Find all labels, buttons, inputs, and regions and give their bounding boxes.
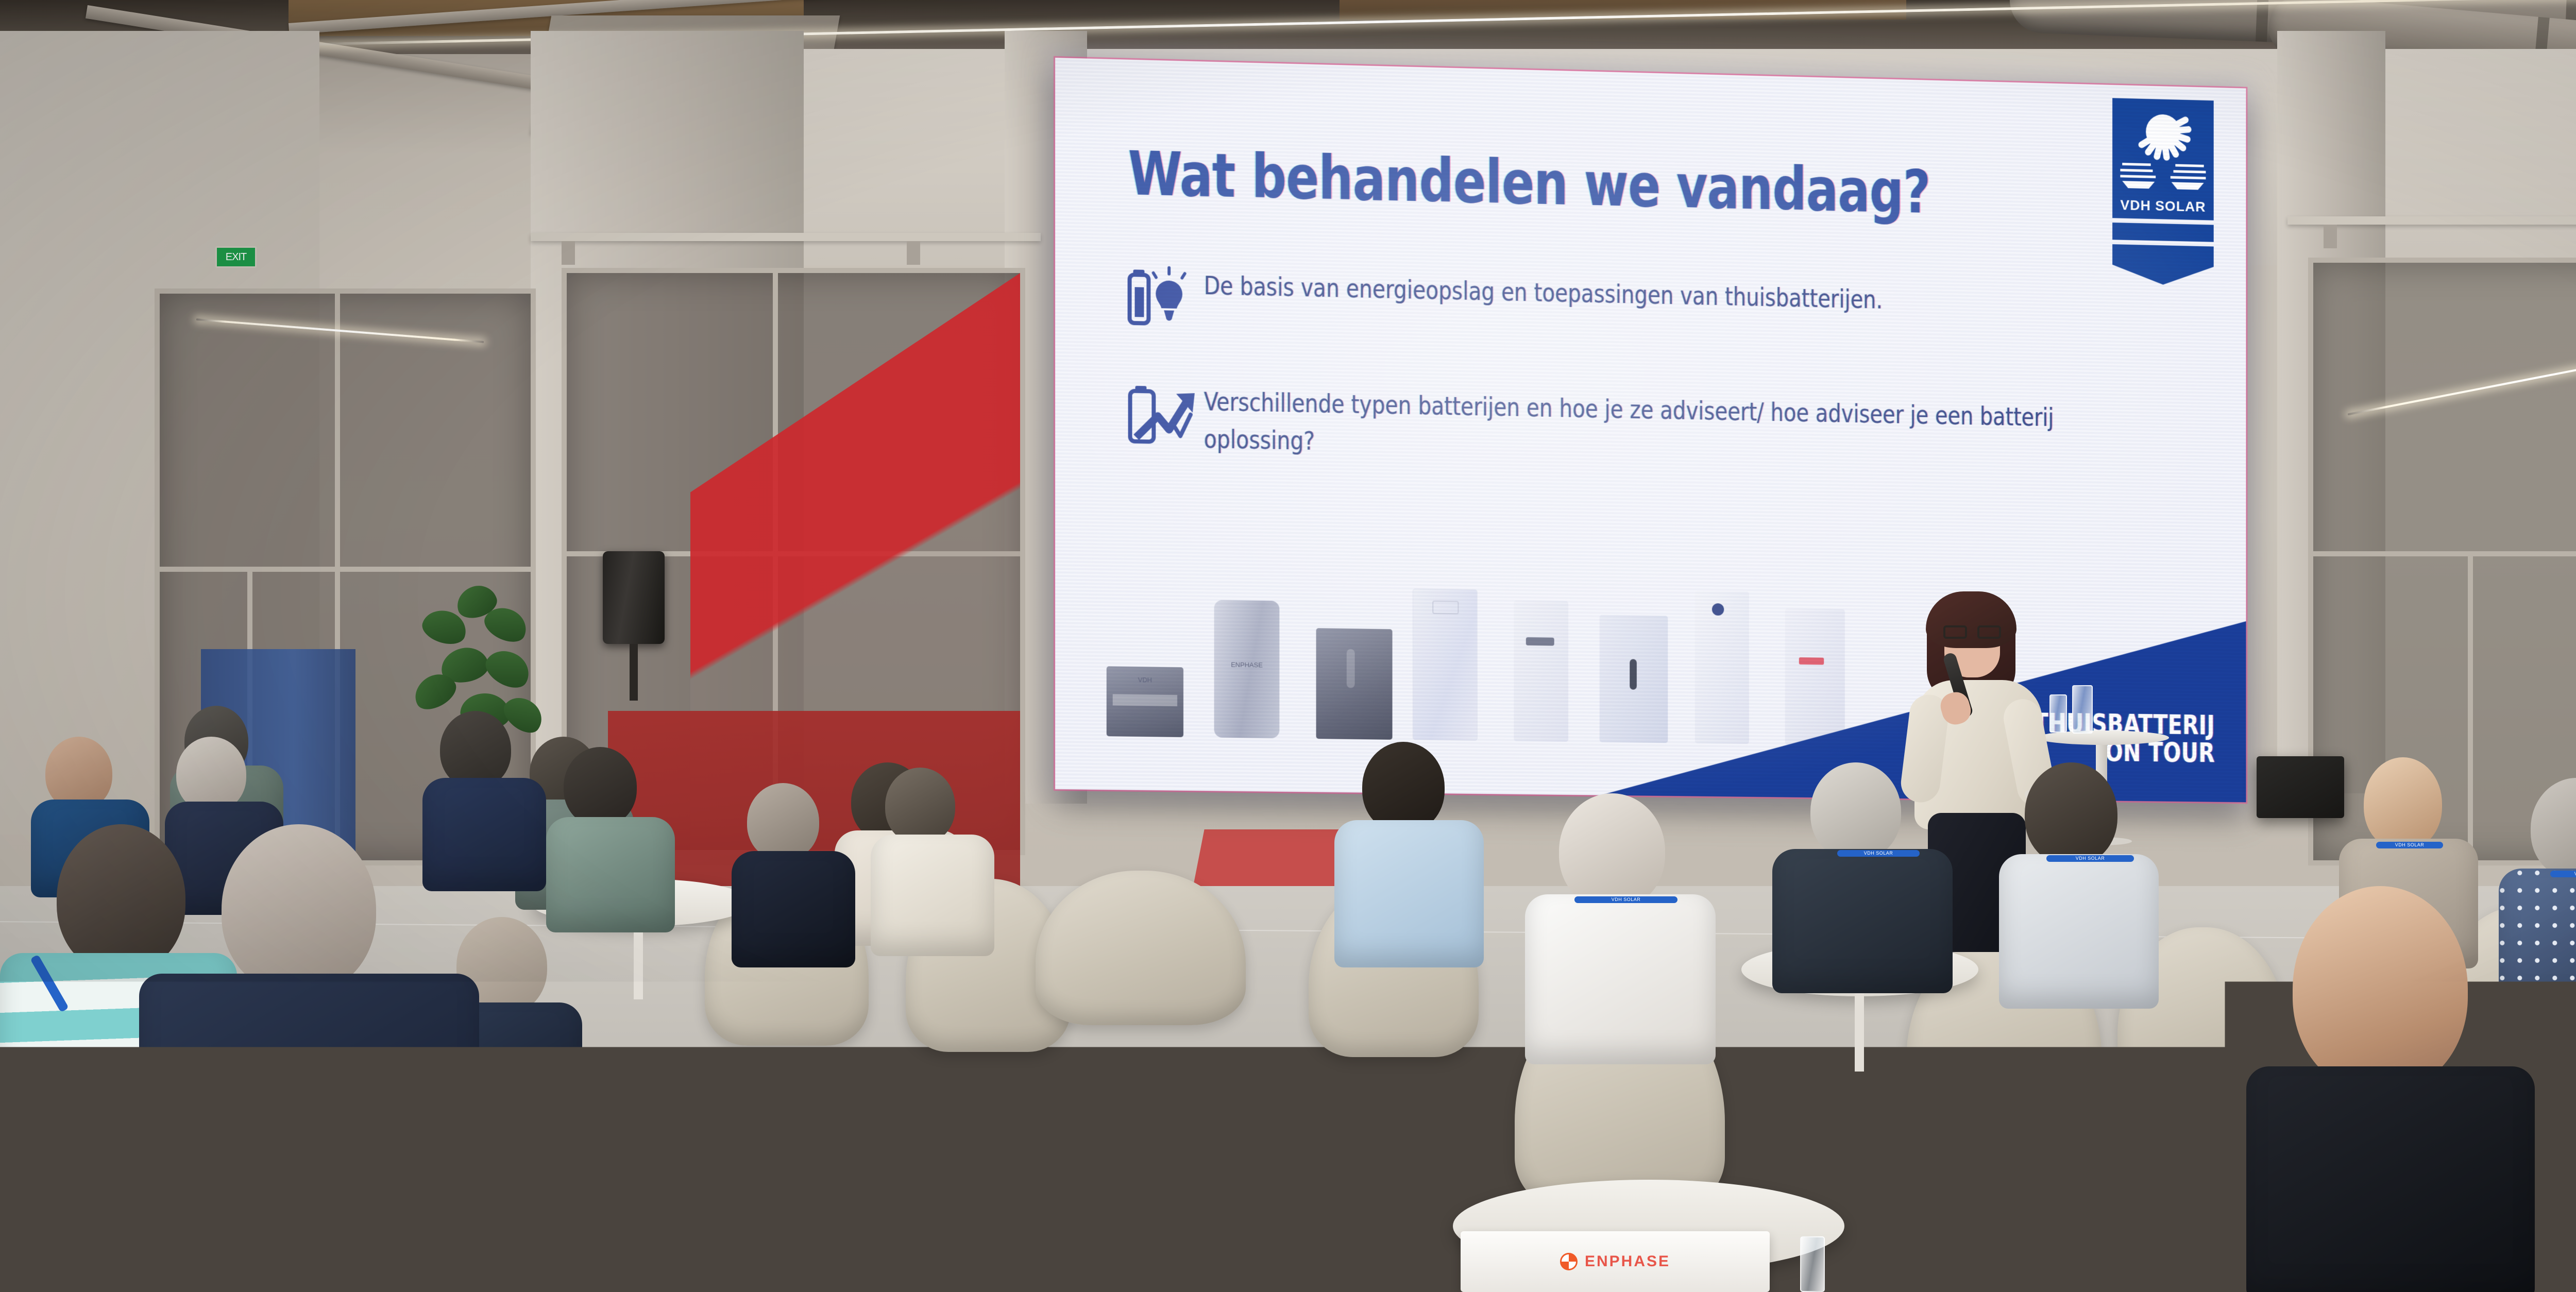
logo-bar	[2112, 223, 2214, 242]
av-equipment	[2257, 756, 2344, 818]
presentation-room-photo: EXIT EXIT Wat behandelen w	[0, 0, 2576, 1292]
table-leg	[634, 922, 643, 999]
battery-growth-chart-icon	[1127, 382, 1204, 455]
table-leg	[1855, 989, 1864, 1072]
rail-bracket	[562, 241, 575, 265]
vdh-solar-logo: VDH SOLAR	[2112, 98, 2214, 285]
slide-bullet-2: Verschillende typen batterijen en hoe je…	[1127, 382, 2157, 474]
enphase-branded-box: ENPHASE	[1461, 1231, 1770, 1292]
product-brand-label: ENPHASE	[1231, 661, 1263, 669]
water-glass	[1800, 1236, 1825, 1292]
product-brand-label: VDH	[1138, 676, 1152, 684]
logo-chevron	[2112, 244, 2214, 286]
slide-bullet-2-text: Verschillende typen batterijen en hoe je…	[1204, 383, 2082, 473]
audience-member	[1334, 742, 1484, 963]
lanyard: VDH SOLAR	[2550, 871, 2576, 877]
lanyard: VDH SOLAR	[2046, 855, 2134, 862]
lanyard: VDH SOLAR	[2376, 842, 2443, 848]
audience-member-foreground	[1113, 984, 1473, 1292]
audience-member: VDH SOLAR	[1525, 793, 1716, 1061]
slide-bullet-list: De basis van energieopslag en toepassing…	[1127, 265, 2157, 518]
list-item: VDH	[1107, 666, 1183, 737]
list-item	[1785, 608, 1845, 745]
audience-member-foreground	[139, 824, 489, 1292]
audience-member: VDH SOLAR	[1999, 762, 2159, 1005]
eyeglasses-on-table-icon	[613, 1110, 690, 1128]
glass-rail-right	[2287, 216, 2576, 225]
audience-member	[871, 768, 994, 953]
speaker-stand-left	[630, 644, 638, 701]
battery-lightbulb-icon	[1127, 265, 1204, 339]
list-item: ENPHASE	[1214, 600, 1280, 739]
presenter-eyeglasses-icon	[1943, 625, 2001, 639]
slide-title: Wat behandelen we vandaag?	[1128, 138, 1930, 227]
enphase-label: ENPHASE	[1585, 1253, 1670, 1270]
water-glass	[2049, 694, 2067, 733]
list-item	[1316, 628, 1393, 740]
audience-member	[732, 783, 855, 963]
exit-sign-primary-icon: EXIT	[215, 246, 257, 268]
pa-speaker-left-icon	[603, 551, 665, 644]
lanyard: VDH SOLAR	[1837, 850, 1920, 857]
audience-member-foreground	[2246, 886, 2535, 1292]
list-item	[1695, 591, 1749, 744]
product-lineup: VDH ENPHASE	[1091, 587, 1900, 746]
audience-member	[546, 747, 675, 927]
logo-wordmark: VDH SOLAR	[2112, 197, 2214, 215]
table-leg	[629, 1128, 638, 1221]
list-item	[1413, 588, 1478, 740]
water-carafe	[2072, 685, 2093, 734]
enphase-logo-icon	[1560, 1253, 1578, 1270]
slide-bullet-1: De basis van energieopslag en toepassing…	[1127, 265, 2157, 358]
list-item	[1600, 615, 1668, 743]
rail-bracket-right	[2324, 225, 2337, 248]
audience-member: VDH SOLAR	[1772, 762, 1953, 989]
lanyard: VDH SOLAR	[1574, 896, 1677, 903]
list-item	[1514, 600, 1568, 742]
logo-panel-lines	[2120, 159, 2206, 196]
glass-rail	[531, 233, 1041, 241]
rail-bracket-2	[907, 241, 920, 265]
slide-bullet-1-text: De basis van energieopslag en toepassing…	[1204, 267, 1883, 318]
